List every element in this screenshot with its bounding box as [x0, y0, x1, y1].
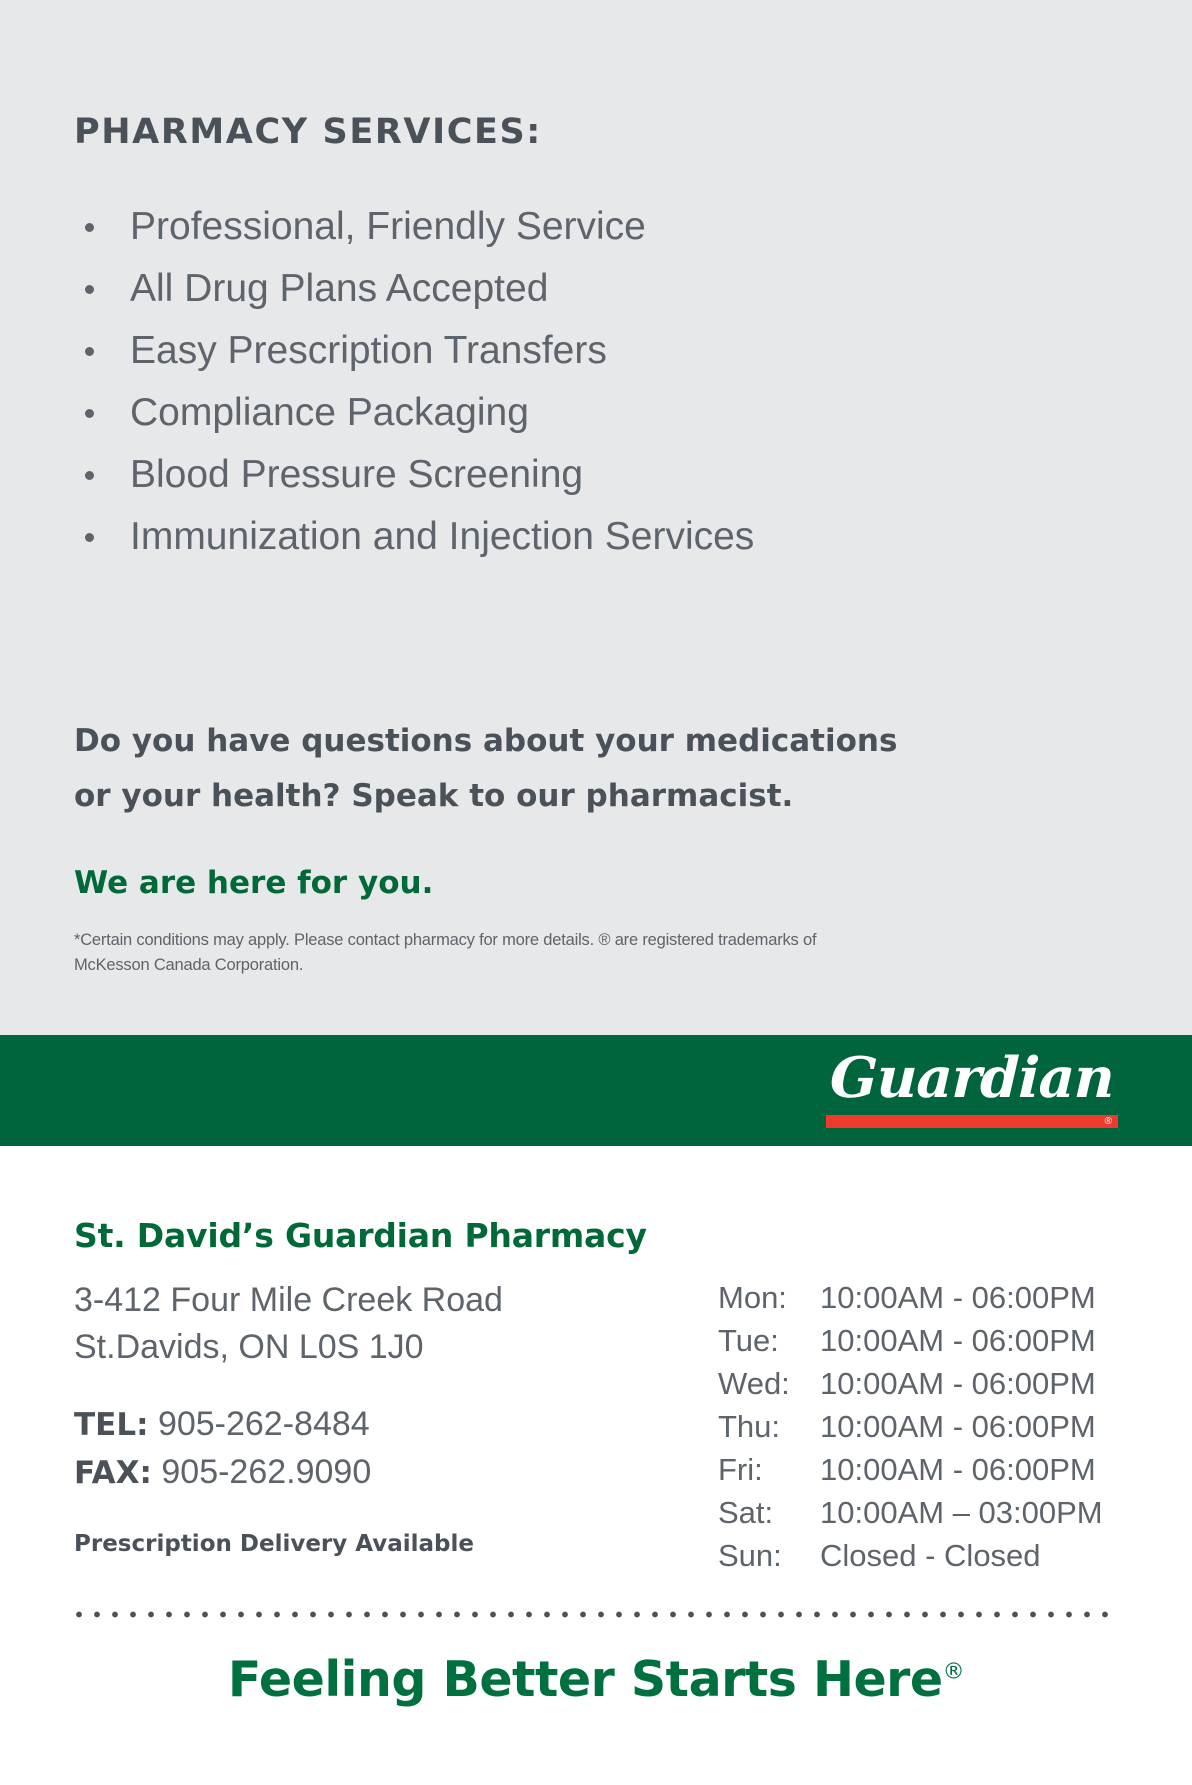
footer-tagline-text: Feeling Better Starts Here: [228, 1651, 943, 1708]
telephone-row: TEL: 905-262-8484: [74, 1401, 634, 1449]
service-label: All Drug Plans Accepted: [130, 267, 548, 310]
here-for-you-tagline: We are here for you.: [74, 865, 433, 901]
pharmacist-question: Do you have questions about your medicat…: [74, 714, 994, 824]
fax-label: FAX:: [74, 1455, 152, 1491]
brand-banner: Guardian ®: [0, 1035, 1192, 1146]
list-item: Professional, Friendly Service: [74, 196, 754, 258]
hours-day: Wed:: [718, 1362, 820, 1405]
guardian-wordmark: Guardian: [829, 1049, 1115, 1107]
hours-time: 10:00AM - 06:00PM: [820, 1405, 1103, 1448]
table-row: Sat: 10:00AM – 03:00PM: [718, 1491, 1103, 1534]
bullet-icon: [85, 347, 94, 356]
hours-table: Mon: 10:00AM - 06:00PM Tue: 10:00AM - 06…: [718, 1276, 1103, 1577]
address-line-2: St.Davids, ON L0S 1J0: [74, 1324, 634, 1371]
telephone-label: TEL:: [74, 1407, 148, 1443]
disclaimer-text: *Certain conditions may apply. Please co…: [74, 928, 1074, 978]
bullet-icon: [85, 285, 94, 294]
hours-time: 10:00AM - 06:00PM: [820, 1319, 1103, 1362]
store-info-panel: St. David’s Guardian Pharmacy 3-412 Four…: [0, 1146, 1192, 1785]
hours-day: Tue:: [718, 1319, 820, 1362]
store-name: St. David’s Guardian Pharmacy: [74, 1216, 647, 1255]
dotted-divider: [70, 1610, 1118, 1619]
hours-time: 10:00AM - 06:00PM: [820, 1276, 1103, 1319]
list-item: All Drug Plans Accepted: [74, 258, 754, 320]
contact-group: TEL: 905-262-8484 FAX: 905-262.9090: [74, 1401, 634, 1497]
page-title: PHARMACY SERVICES:: [74, 112, 542, 152]
bullet-icon: [85, 533, 94, 542]
footer-tagline: Feeling Better Starts Here®: [0, 1651, 1192, 1708]
flyer-page: PHARMACY SERVICES: Professional, Friendl…: [0, 0, 1192, 1785]
hours-day: Thu:: [718, 1405, 820, 1448]
bullet-icon: [85, 409, 94, 418]
disclaimer-line-2: McKesson Canada Corporation.: [74, 953, 1074, 978]
fax-row: FAX: 905-262.9090: [74, 1449, 634, 1497]
hours-day: Mon:: [718, 1276, 820, 1319]
question-line-2: or your health? Speak to our pharmacist.: [74, 769, 994, 824]
table-row: Sun: Closed - Closed: [718, 1534, 1103, 1577]
service-label: Easy Prescription Transfers: [130, 329, 607, 372]
question-line-1: Do you have questions about your medicat…: [74, 714, 994, 769]
service-label: Immunization and Injection Services: [130, 515, 754, 558]
guardian-logo: Guardian ®: [818, 1049, 1118, 1133]
hours-day: Sat:: [718, 1491, 820, 1534]
registered-trademark-icon: ®: [1105, 1115, 1112, 1128]
disclaimer-line-1: *Certain conditions may apply. Please co…: [74, 928, 1074, 953]
store-contact-column: 3-412 Four Mile Creek Road St.Davids, ON…: [74, 1277, 634, 1557]
list-item: Easy Prescription Transfers: [74, 320, 754, 382]
registered-trademark-icon: ®: [943, 1660, 965, 1685]
list-item: Blood Pressure Screening: [74, 444, 754, 506]
table-row: Tue: 10:00AM - 06:00PM: [718, 1319, 1103, 1362]
hours-time: 10:00AM - 06:00PM: [820, 1362, 1103, 1405]
table-row: Wed: 10:00AM - 06:00PM: [718, 1362, 1103, 1405]
hours-time: Closed - Closed: [820, 1534, 1103, 1577]
telephone-value[interactable]: 905-262-8484: [158, 1405, 370, 1443]
table-row: Thu: 10:00AM - 06:00PM: [718, 1405, 1103, 1448]
hours-day: Fri:: [718, 1448, 820, 1491]
service-label: Blood Pressure Screening: [130, 453, 583, 496]
table-row: Mon: 10:00AM - 06:00PM: [718, 1276, 1103, 1319]
service-label: Compliance Packaging: [130, 391, 529, 434]
hours-time: 10:00AM - 06:00PM: [820, 1448, 1103, 1491]
hours-time: 10:00AM – 03:00PM: [820, 1491, 1103, 1534]
list-item: Compliance Packaging: [74, 382, 754, 444]
bullet-icon: [85, 223, 94, 232]
pharmacy-services-panel: PHARMACY SERVICES: Professional, Friendl…: [0, 0, 1192, 1035]
service-label: Professional, Friendly Service: [130, 205, 646, 248]
fax-value: 905-262.9090: [161, 1453, 371, 1491]
bullet-icon: [85, 471, 94, 480]
list-item: Immunization and Injection Services: [74, 506, 754, 568]
table-row: Fri: 10:00AM - 06:00PM: [718, 1448, 1103, 1491]
services-list: Professional, Friendly Service All Drug …: [74, 196, 754, 568]
delivery-note: Prescription Delivery Available: [74, 1531, 634, 1557]
hours-day: Sun:: [718, 1534, 820, 1577]
address-line-1: 3-412 Four Mile Creek Road: [74, 1277, 634, 1324]
logo-red-underline: [826, 1115, 1118, 1128]
